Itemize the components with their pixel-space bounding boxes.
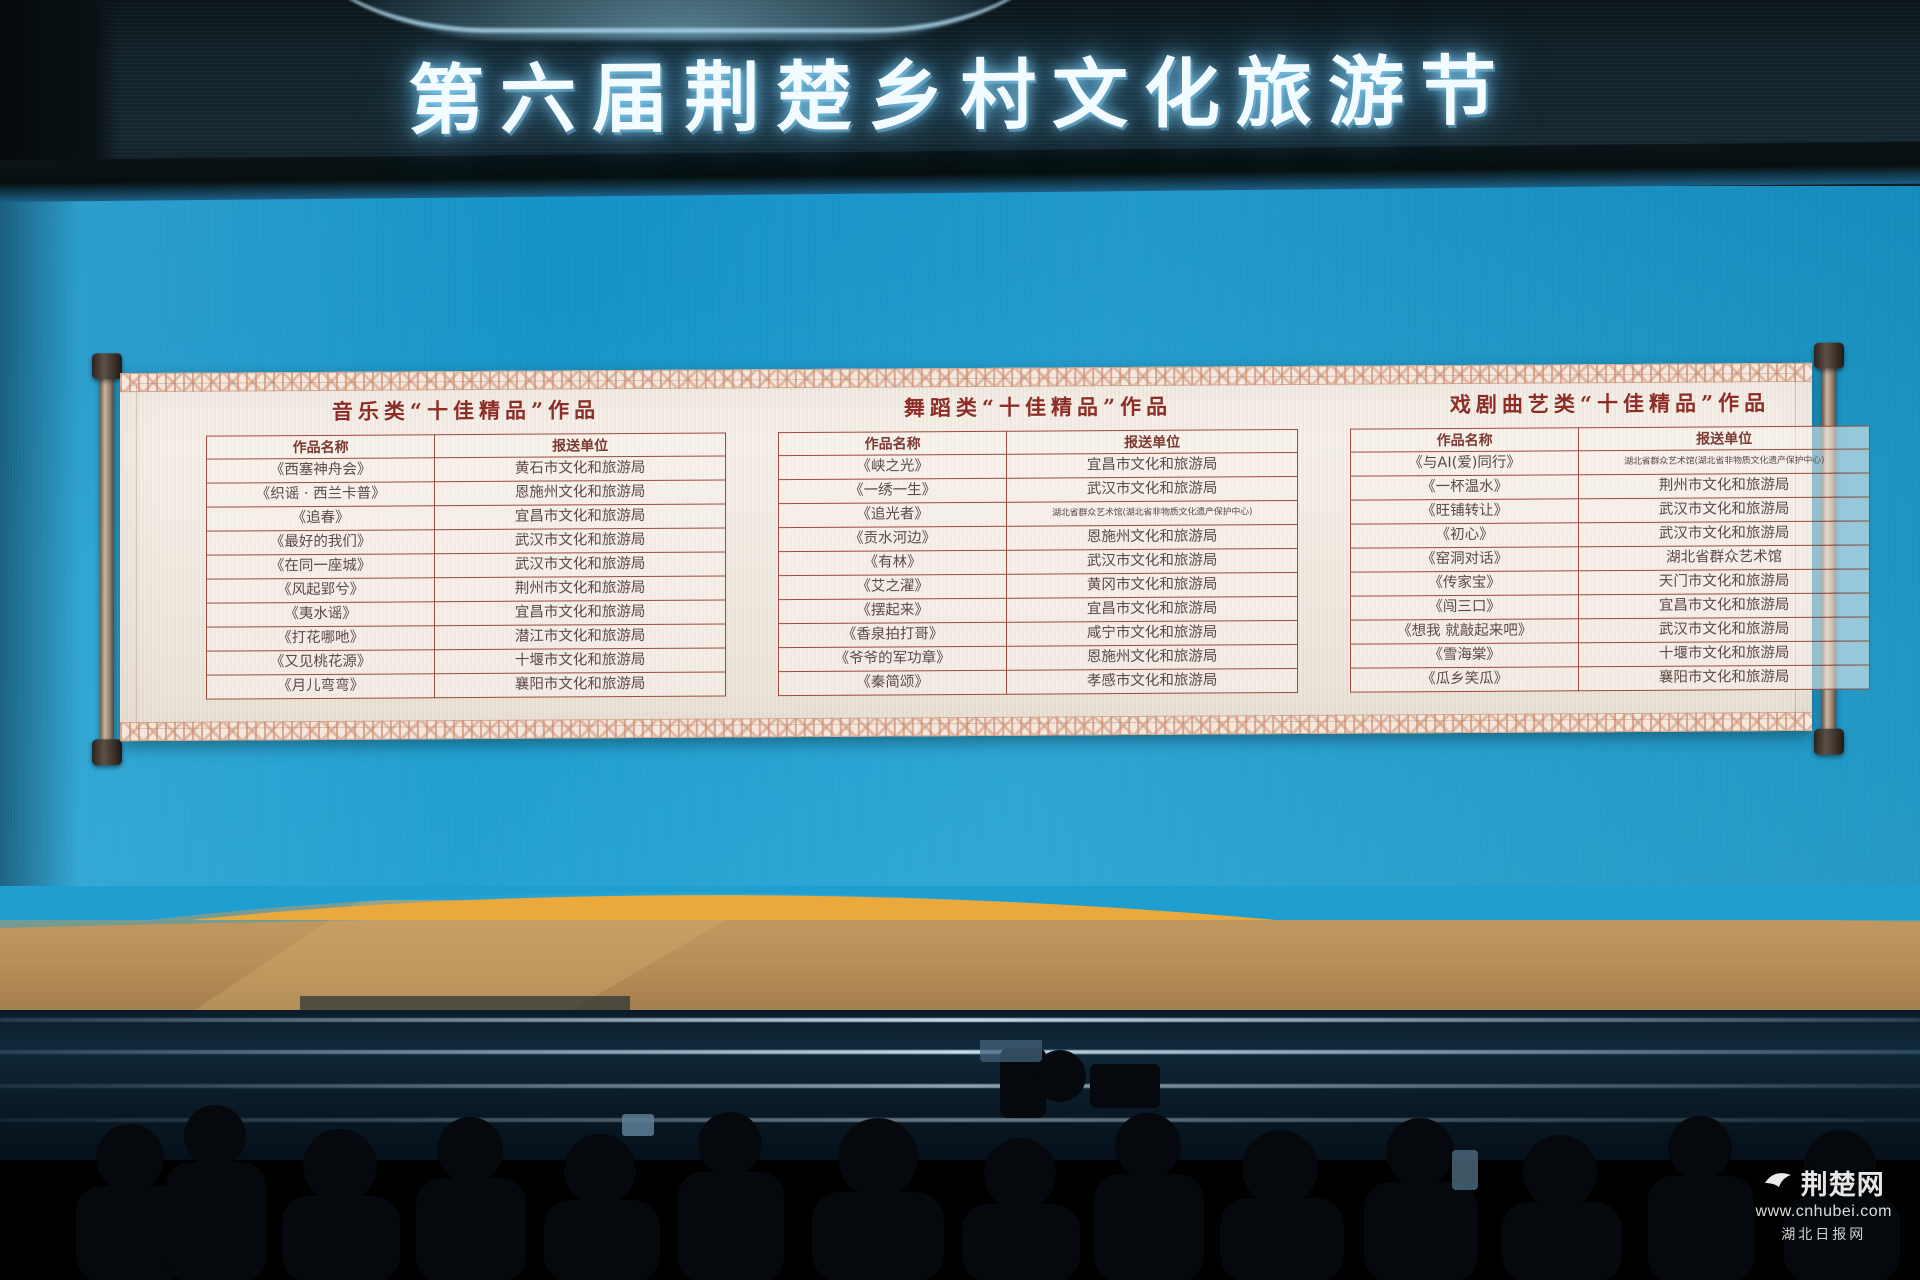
cell-work-name: 《最好的我们》 <box>207 530 435 555</box>
col-header-submitting-unit: 报送单位 <box>1579 426 1870 451</box>
table-header-row: 作品名称 报送单位 <box>1351 426 1870 452</box>
rod-cap-top <box>92 353 122 379</box>
table-row: 《月儿弯弯》襄阳市文化和旅游局 <box>207 672 726 699</box>
col-header-work-name: 作品名称 <box>1351 428 1579 452</box>
cell-work-name: 《夷水谣》 <box>207 602 435 627</box>
table-title-music: 音乐类“十佳精品”作品 <box>206 393 726 426</box>
table-row: 《又见桃花源》十堰市文化和旅游局 <box>207 648 726 675</box>
cell-unit: 宜昌市文化和旅游局 <box>435 504 726 530</box>
table-row: 《旺铺转让》武汉市文化和旅游局 <box>1351 497 1870 524</box>
award-table-music: 音乐类“十佳精品”作品 作品名称 报送单位 《西塞神舟会》黄石市文化和旅游局 《… <box>206 393 726 726</box>
cell-unit: 武汉市文化和旅游局 <box>1579 617 1870 643</box>
cell-work-name: 《打花哪吔》 <box>207 626 435 651</box>
cell-unit: 湖北省群众艺术馆 <box>1579 545 1870 571</box>
table-row: 《一绣一生》武汉市文化和旅游局 <box>779 476 1298 503</box>
rod-cap-bottom <box>92 739 122 765</box>
table-row: 《峡之光》宜昌市文化和旅游局 <box>779 452 1298 479</box>
table-row: 《夷水谣》宜昌市文化和旅游局 <box>207 600 726 627</box>
table-title-drama: 戏剧曲艺类“十佳精品”作品 <box>1350 386 1870 419</box>
bird-logo-icon <box>1763 1169 1793 1197</box>
hanging-scroll: 音乐类“十佳精品”作品 作品名称 报送单位 《西塞神舟会》黄石市文化和旅游局 《… <box>48 354 1888 755</box>
table-row: 《窑洞对话》湖北省群众艺术馆 <box>1351 545 1870 572</box>
table-header-row: 作品名称 报送单位 <box>779 429 1298 455</box>
table-row: 《风起郢兮》荆州市文化和旅游局 <box>207 576 726 603</box>
cell-work-name: 《一杯温水》 <box>1351 475 1579 500</box>
cell-work-name: 《艾之濯》 <box>779 574 1007 599</box>
decorative-ribbons <box>0 886 1920 920</box>
table-drama: 作品名称 报送单位 《与AI(爱)同行》湖北省群众艺术馆(湖北省非物质文化遗产保… <box>1350 425 1870 692</box>
cell-work-name: 《追光者》 <box>779 502 1007 527</box>
table-row: 《织谣 · 西兰卡普》恩施州文化和旅游局 <box>207 480 726 507</box>
table-row: 《闯三口》宜昌市文化和旅游局 <box>1351 593 1870 620</box>
cell-work-name: 《爷爷的军功章》 <box>779 646 1007 671</box>
cell-work-name: 《峡之光》 <box>779 454 1007 479</box>
cell-unit: 恩施州文化和旅游局 <box>1007 524 1298 550</box>
award-tables: 音乐类“十佳精品”作品 作品名称 报送单位 《西塞神舟会》黄石市文化和旅游局 《… <box>206 386 1870 726</box>
table-row: 《瓜乡笑瓜》襄阳市文化和旅游局 <box>1351 665 1870 692</box>
cell-unit: 宜昌市文化和旅游局 <box>1007 452 1298 478</box>
cell-unit: 咸宁市文化和旅游局 <box>1007 620 1298 646</box>
cell-work-name: 《旺铺转让》 <box>1351 499 1579 524</box>
table-row: 《与AI(爱)同行》湖北省群众艺术馆(湖北省非物质文化遗产保护中心) <box>1351 449 1870 476</box>
col-header-work-name: 作品名称 <box>779 431 1007 455</box>
cell-unit: 武汉市文化和旅游局 <box>1007 476 1298 502</box>
cell-unit: 荆州市文化和旅游局 <box>435 576 726 602</box>
cell-work-name: 《雪海棠》 <box>1351 643 1579 668</box>
cell-work-name: 《风起郢兮》 <box>207 578 435 603</box>
cell-work-name: 《秦简颂》 <box>779 670 1007 695</box>
stage-light-arc-edge <box>300 0 1060 33</box>
table-row: 《爷爷的军功章》恩施州文化和旅游局 <box>779 644 1298 671</box>
rod-cap-bottom <box>1814 729 1844 755</box>
cell-unit: 湖北省群众艺术馆(湖北省非物质文化遗产保护中心) <box>1579 449 1870 475</box>
cell-work-name: 《摆起来》 <box>779 598 1007 623</box>
cell-unit: 天门市文化和旅游局 <box>1579 569 1870 595</box>
cell-unit: 黄石市文化和旅游局 <box>435 456 726 482</box>
table-row: 《贡水河边》恩施州文化和旅游局 <box>779 524 1298 551</box>
table-row: 《传家宝》天门市文化和旅游局 <box>1351 569 1870 596</box>
cell-work-name: 《窑洞对话》 <box>1351 547 1579 572</box>
award-table-dance: 舞蹈类“十佳精品”作品 作品名称 报送单位 《峡之光》宜昌市文化和旅游局 《一绣… <box>778 390 1298 723</box>
cell-work-name: 《织谣 · 西兰卡普》 <box>207 482 435 507</box>
cell-work-name: 《一绣一生》 <box>779 478 1007 503</box>
cell-unit: 荆州市文化和旅游局 <box>1579 473 1870 499</box>
cell-work-name: 《传家宝》 <box>1351 571 1579 596</box>
cell-unit: 武汉市文化和旅游局 <box>435 528 726 554</box>
watermark-brand-row: 荆楚网 <box>1756 1163 1892 1202</box>
table-row: 《最好的我们》武汉市文化和旅游局 <box>207 528 726 555</box>
cell-unit: 武汉市文化和旅游局 <box>435 552 726 578</box>
table-row: 《初心》武汉市文化和旅游局 <box>1351 521 1870 548</box>
watermark-subtitle: 湖北日报网 <box>1756 1224 1892 1244</box>
table-row: 《艾之濯》黄冈市文化和旅游局 <box>779 572 1298 599</box>
audience-silhouette <box>0 1040 1920 1280</box>
table-row: 《秦简颂》孝感市文化和旅游局 <box>779 668 1298 695</box>
cell-unit: 孝感市文化和旅游局 <box>1007 668 1298 694</box>
cell-work-name: 《西塞神舟会》 <box>207 458 435 483</box>
cell-work-name: 《与AI(爱)同行》 <box>1351 451 1579 476</box>
screenshot-root: 第六届荆楚乡村文化旅游节 第五届湖北艺术节群众文艺(音乐、舞蹈、戏剧、曲艺) “… <box>0 0 1920 1280</box>
cell-unit: 襄阳市文化和旅游局 <box>1579 665 1870 691</box>
scroll-rod-left <box>92 353 122 765</box>
table-row: 《追光者》湖北省群众艺术馆(湖北省非物质文化遗产保护中心) <box>779 500 1298 527</box>
cell-unit: 武汉市文化和旅游局 <box>1007 548 1298 574</box>
table-row: 《一杯温水》荆州市文化和旅游局 <box>1351 473 1870 500</box>
cell-unit: 武汉市文化和旅游局 <box>1579 497 1870 523</box>
cell-unit: 宜昌市文化和旅游局 <box>1007 596 1298 622</box>
watermark-brand-text: 荆楚网 <box>1801 1163 1885 1202</box>
audience-svg <box>0 1040 1920 1280</box>
scroll-paper: 音乐类“十佳精品”作品 作品名称 报送单位 《西塞神舟会》黄石市文化和旅游局 《… <box>120 363 1812 741</box>
cell-work-name: 《想我 就敲起来吧》 <box>1351 619 1579 644</box>
cell-unit: 恩施州文化和旅游局 <box>1007 644 1298 670</box>
cell-unit: 恩施州文化和旅游局 <box>435 480 726 506</box>
cell-work-name: 《追春》 <box>207 506 435 531</box>
cell-unit: 宜昌市文化和旅游局 <box>435 600 726 626</box>
stage-light-strip <box>0 1018 1920 1022</box>
table-header-row: 作品名称 报送单位 <box>207 433 726 459</box>
table-music: 作品名称 报送单位 《西塞神舟会》黄石市文化和旅游局 《织谣 · 西兰卡普》恩施… <box>206 432 726 699</box>
cell-work-name: 《初心》 <box>1351 523 1579 548</box>
table-row: 《西塞神舟会》黄石市文化和旅游局 <box>207 456 726 483</box>
cell-unit: 黄冈市文化和旅游局 <box>1007 572 1298 598</box>
cell-work-name: 《香泉拍打哥》 <box>779 622 1007 647</box>
table-dance: 作品名称 报送单位 《峡之光》宜昌市文化和旅游局 《一绣一生》武汉市文化和旅游局… <box>778 429 1298 696</box>
table-row: 《摆起来》宜昌市文化和旅游局 <box>779 596 1298 623</box>
award-table-drama: 戏剧曲艺类“十佳精品”作品 作品名称 报送单位 《与AI(爱)同行》湖北省群众艺… <box>1350 386 1870 719</box>
rod-cap-top <box>1814 343 1844 369</box>
cell-work-name: 《闯三口》 <box>1351 595 1579 620</box>
col-header-work-name: 作品名称 <box>207 435 435 459</box>
cell-unit: 湖北省群众艺术馆(湖北省非物质文化遗产保护中心) <box>1007 500 1298 526</box>
table-title-dance: 舞蹈类“十佳精品”作品 <box>778 390 1298 423</box>
cell-work-name: 《又见桃花源》 <box>207 650 435 675</box>
cell-unit: 襄阳市文化和旅游局 <box>435 672 726 698</box>
cell-work-name: 《瓜乡笑瓜》 <box>1351 667 1579 692</box>
cell-work-name: 《在同一座城》 <box>207 554 435 579</box>
table-row: 《在同一座城》武汉市文化和旅游局 <box>207 552 726 579</box>
col-header-submitting-unit: 报送单位 <box>1007 429 1298 454</box>
table-row: 《有林》武汉市文化和旅游局 <box>779 548 1298 575</box>
rod-bar <box>100 369 114 749</box>
cell-unit: 武汉市文化和旅游局 <box>1579 521 1870 547</box>
cell-unit: 宜昌市文化和旅游局 <box>1579 593 1870 619</box>
cell-work-name: 《有林》 <box>779 550 1007 575</box>
watermark: 荆楚网 www.cnhubei.com 湖北日报网 <box>1756 1163 1892 1244</box>
table-row: 《追春》宜昌市文化和旅游局 <box>207 504 726 531</box>
table-row: 《打花哪吔》潜江市文化和旅游局 <box>207 624 726 651</box>
cell-work-name: 《月儿弯弯》 <box>207 674 435 699</box>
cell-unit: 潜江市文化和旅游局 <box>435 624 726 650</box>
ribbon-svg <box>0 886 1920 920</box>
watermark-url: www.cnhubei.com <box>1756 1203 1892 1221</box>
cell-work-name: 《贡水河边》 <box>779 526 1007 551</box>
cell-unit: 十堰市文化和旅游局 <box>435 648 726 674</box>
cell-unit: 十堰市文化和旅游局 <box>1579 641 1870 667</box>
table-row: 《雪海棠》十堰市文化和旅游局 <box>1351 641 1870 668</box>
table-row: 《想我 就敲起来吧》武汉市文化和旅游局 <box>1351 617 1870 644</box>
table-row: 《香泉拍打哥》咸宁市文化和旅游局 <box>779 620 1298 647</box>
col-header-submitting-unit: 报送单位 <box>435 433 726 458</box>
